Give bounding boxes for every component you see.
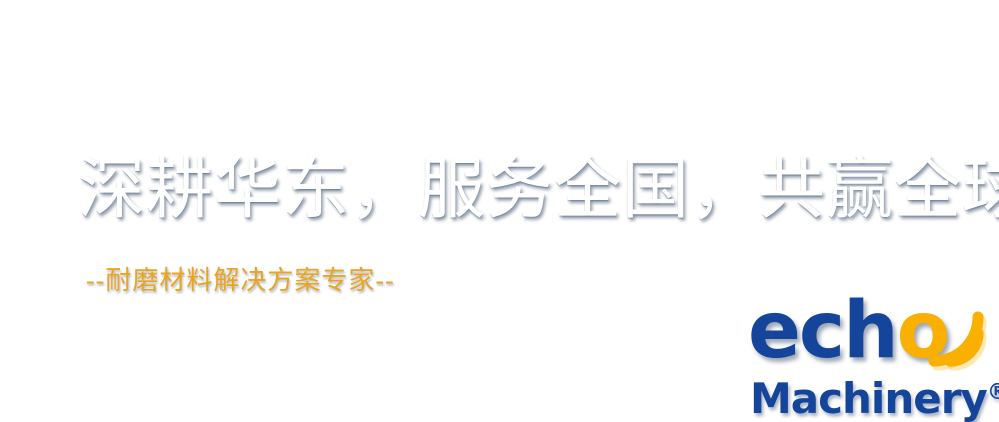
logo-tagline-text: Machinery: [750, 374, 987, 422]
registered-trademark-icon: ®: [987, 380, 999, 405]
company-logo[interactable]: echo Machinery®: [742, 292, 999, 422]
logo-wordmark: echo: [748, 292, 948, 370]
subtitle-tagline: --耐磨材料解决方案专家--: [86, 265, 395, 297]
logo-wordmark-o: o: [897, 286, 949, 376]
page-title: 深耕华东，服务全国，共赢全球: [78, 152, 958, 228]
logo-tagline: Machinery®: [750, 370, 999, 422]
logo-wordmark-ech: ech: [748, 286, 897, 376]
promo-banner: 深耕华东，服务全国，共赢全球 --耐磨材料解决方案专家-- echo Machi…: [0, 0, 999, 422]
